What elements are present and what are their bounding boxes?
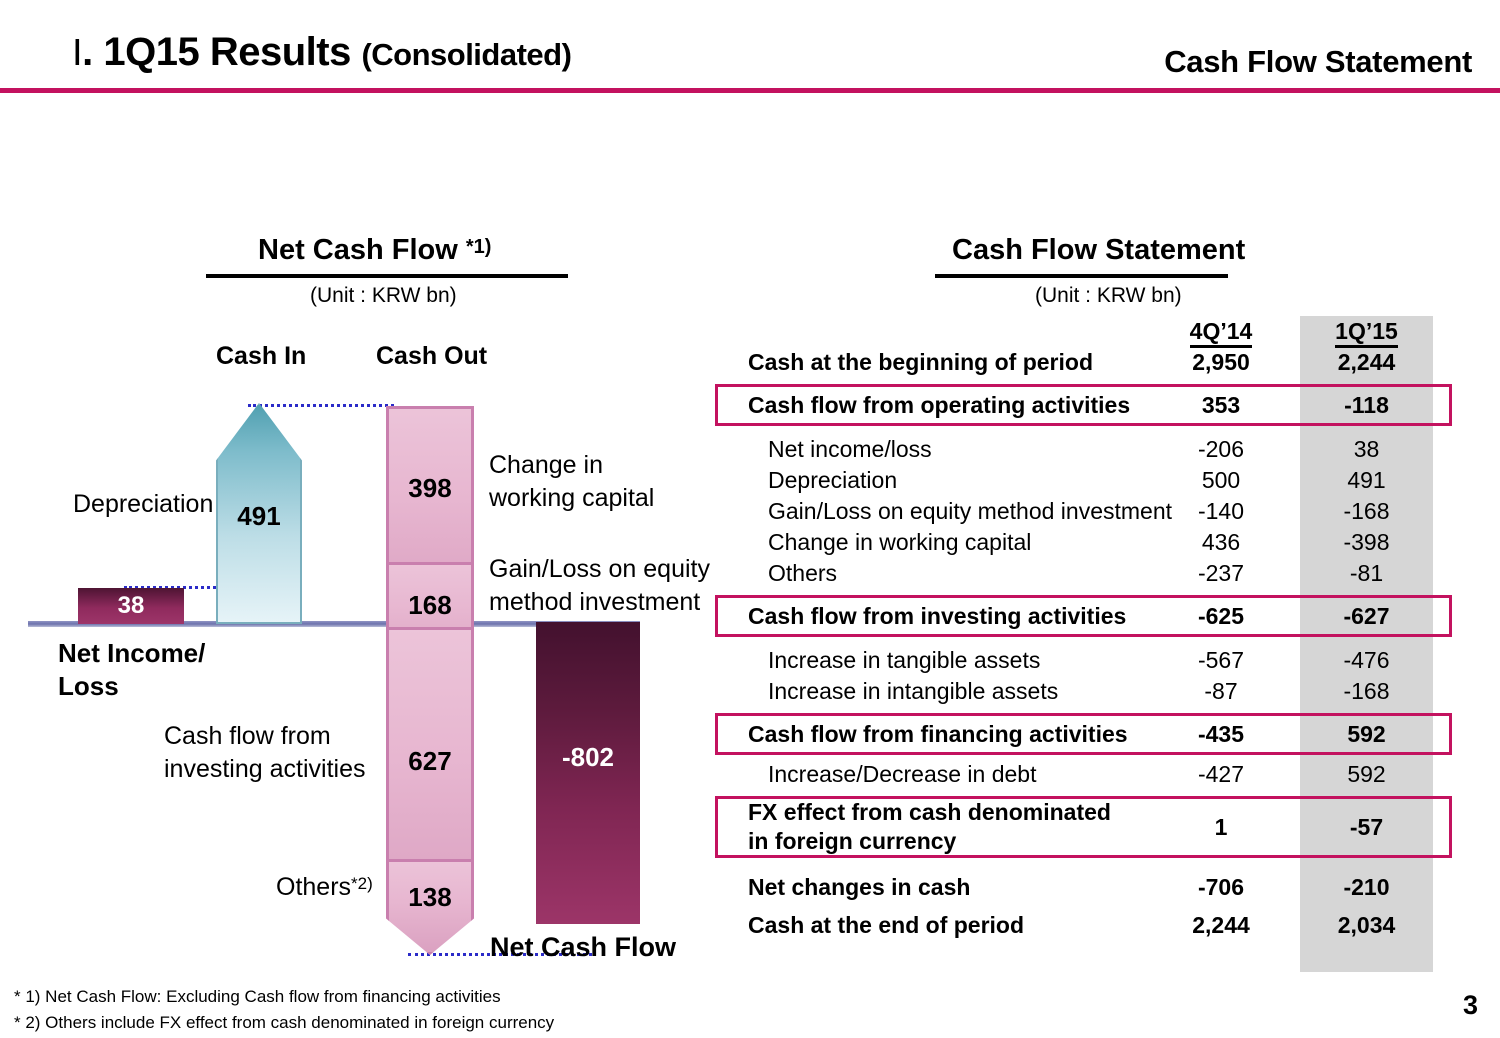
net-cash-flow-chart: Net Cash Flow *1) (Unit : KRW bn) Cash I… bbox=[0, 94, 730, 974]
table-cell-1q15: 2,244 bbox=[1300, 349, 1433, 376]
table-cell-4q14: 2,244 bbox=[1156, 912, 1286, 939]
section-roman-numeral: Ⅰ bbox=[72, 33, 82, 73]
chart-unit-label: (Unit : KRW bn) bbox=[310, 284, 457, 308]
table-cell-1q15: -118 bbox=[1300, 392, 1433, 419]
arrow-working-capital-value: 398 bbox=[386, 473, 474, 504]
page-title-main: . 1Q15 Results bbox=[82, 30, 351, 74]
label-others: Others*2) bbox=[276, 873, 373, 902]
table-cell-4q14: -206 bbox=[1156, 436, 1286, 463]
label-net-cash-flow: Net Cash Flow bbox=[490, 932, 676, 963]
table-cell-1q15: -168 bbox=[1300, 498, 1433, 525]
page-title: Ⅰ. 1Q15 Results (Consolidated) bbox=[72, 30, 571, 75]
table-row: Gain/Loss on equity method investment-14… bbox=[730, 496, 1500, 527]
table-row: Increase in tangible assets-567-476 bbox=[730, 645, 1500, 676]
chart-title: Net Cash Flow *1) bbox=[258, 234, 491, 267]
table-row: Increase in intangible assets-87-168 bbox=[730, 676, 1500, 707]
label-change-in-working-capital: Change in working capital bbox=[489, 449, 654, 515]
chart-cash-out-header: Cash Out bbox=[376, 342, 487, 371]
label-net-income-line1: Net Income/ bbox=[58, 638, 205, 668]
slide-footnotes: * 1) Net Cash Flow: Excluding Cash flow … bbox=[14, 984, 554, 1036]
table-row: Cash flow from investing activities-625-… bbox=[730, 595, 1500, 637]
label-depreciation: Depreciation bbox=[73, 490, 213, 519]
header-divider-rule bbox=[0, 88, 1500, 93]
label-net-income-loss: Net Income/ Loss bbox=[58, 637, 205, 703]
label-working-capital-line1: Change in bbox=[489, 451, 603, 479]
label-others-footnote-marker: *2) bbox=[351, 874, 373, 893]
table-row: Cash at the beginning of period2,9502,24… bbox=[730, 347, 1500, 378]
label-investing-line1: Cash flow from bbox=[164, 722, 331, 750]
slide-header: Ⅰ. 1Q15 Results (Consolidated) Cash Flow… bbox=[0, 0, 1500, 94]
footnote-1: * 1) Net Cash Flow: Excluding Cash flow … bbox=[14, 984, 554, 1010]
table-row: Cash flow from financing activities-4355… bbox=[730, 713, 1500, 755]
table-cell-1q15: 38 bbox=[1300, 436, 1433, 463]
table-cell-1q15: -57 bbox=[1300, 814, 1433, 841]
chart-title-text: Net Cash Flow bbox=[258, 234, 458, 266]
table-row: Others-237-81 bbox=[730, 558, 1500, 589]
table-row: Cash at the end of period2,2442,034 bbox=[730, 906, 1500, 944]
table-row: Depreciation500491 bbox=[730, 465, 1500, 496]
chart-title-footnote-marker: *1) bbox=[466, 236, 492, 258]
table-cell-4q14: -87 bbox=[1156, 678, 1286, 705]
cash-flow-statement-table: 4Q’14 1Q’15 Cash at the beginning of per… bbox=[730, 316, 1500, 944]
table-cell-1q15: -81 bbox=[1300, 560, 1433, 587]
table-cell-1q15: -627 bbox=[1300, 603, 1433, 630]
label-gain-loss-line2: method investment bbox=[489, 588, 700, 616]
table-cell-1q15: 592 bbox=[1300, 761, 1433, 788]
bar-net-income-value: 38 bbox=[78, 592, 184, 620]
table-cell-4q14: 353 bbox=[1156, 392, 1286, 419]
bar-net-cash-flow: -802 bbox=[536, 622, 640, 924]
chart-cash-in-header: Cash In bbox=[216, 342, 306, 371]
table-cell-4q14: -237 bbox=[1156, 560, 1286, 587]
arrow-gain-loss-value: 168 bbox=[386, 590, 474, 621]
table-cell-4q14: -435 bbox=[1156, 721, 1286, 748]
table-row-label-line2: in foreign currency bbox=[748, 828, 956, 854]
table-cell-1q15: -476 bbox=[1300, 647, 1433, 674]
table-unit-label: (Unit : KRW bn) bbox=[1035, 284, 1182, 308]
table-cell-1q15: 491 bbox=[1300, 467, 1433, 494]
arrow-investing-value: 627 bbox=[386, 746, 474, 777]
table-row: Cash flow from operating activities353-1… bbox=[730, 384, 1500, 426]
label-others-text: Others bbox=[276, 873, 351, 901]
arrow-others-value: 138 bbox=[386, 882, 474, 913]
table-header-row: 4Q’14 1Q’15 bbox=[730, 316, 1500, 347]
label-gain-loss-line1: Gain/Loss on equity bbox=[489, 555, 710, 583]
table-cell-1q15: -168 bbox=[1300, 678, 1433, 705]
table-row: FX effect from cash denominatedin foreig… bbox=[730, 796, 1500, 858]
table-row: Change in working capital436-398 bbox=[730, 527, 1500, 558]
table-cell-1q15: 592 bbox=[1300, 721, 1433, 748]
table-title: Cash Flow Statement bbox=[952, 234, 1245, 267]
table-cell-4q14: -567 bbox=[1156, 647, 1286, 674]
footnote-2: * 2) Others include FX effect from cash … bbox=[14, 1010, 554, 1036]
table-rows-host: Cash at the beginning of period2,9502,24… bbox=[730, 347, 1500, 944]
table-cell-4q14: -427 bbox=[1156, 761, 1286, 788]
header-section-title: Cash Flow Statement bbox=[1164, 44, 1472, 80]
bar-net-income-loss: 38 bbox=[78, 588, 184, 624]
chart-title-underline bbox=[206, 274, 568, 278]
table-cell-1q15: 2,034 bbox=[1300, 912, 1433, 939]
table-cell-4q14: -140 bbox=[1156, 498, 1286, 525]
table-cell-4q14: -625 bbox=[1156, 603, 1286, 630]
cash-flow-statement-table-panel: Cash Flow Statement (Unit : KRW bn) 4Q’1… bbox=[730, 94, 1500, 984]
table-cell-4q14: 436 bbox=[1156, 529, 1286, 556]
arrow-depreciation-cash-in: 491 bbox=[216, 403, 302, 624]
label-net-income-line2: Loss bbox=[58, 671, 119, 701]
table-row: Net changes in cash-706-210 bbox=[730, 868, 1500, 906]
arrow-others: 138 bbox=[386, 859, 474, 955]
table-cell-4q14: 2,950 bbox=[1156, 349, 1286, 376]
bar-net-cash-flow-value: -802 bbox=[536, 742, 640, 773]
table-cell-1q15: -398 bbox=[1300, 529, 1433, 556]
table-row: Net income/loss-20638 bbox=[730, 434, 1500, 465]
table-header-1q15: 1Q’15 bbox=[1300, 318, 1433, 345]
label-investing-activities: Cash flow from investing activities bbox=[164, 720, 365, 786]
table-cell-1q15: -210 bbox=[1300, 874, 1433, 901]
label-gain-loss-equity-method: Gain/Loss on equity method investment bbox=[489, 553, 710, 619]
page-title-sub: (Consolidated) bbox=[361, 37, 571, 72]
table-title-underline bbox=[935, 274, 1228, 278]
label-investing-line2: investing activities bbox=[164, 755, 365, 783]
connector-line-top bbox=[248, 404, 394, 407]
page-number: 3 bbox=[1463, 990, 1478, 1021]
table-row-label-line1: FX effect from cash denominated bbox=[748, 799, 1111, 825]
label-working-capital-line2: working capital bbox=[489, 484, 654, 512]
table-cell-4q14: 1 bbox=[1156, 814, 1286, 841]
table-header-4q14: 4Q’14 bbox=[1156, 318, 1286, 345]
arrow-depreciation-value: 491 bbox=[216, 501, 302, 532]
table-cell-4q14: -706 bbox=[1156, 874, 1286, 901]
table-cell-4q14: 500 bbox=[1156, 467, 1286, 494]
table-row: Increase/Decrease in debt-427592 bbox=[730, 759, 1500, 790]
